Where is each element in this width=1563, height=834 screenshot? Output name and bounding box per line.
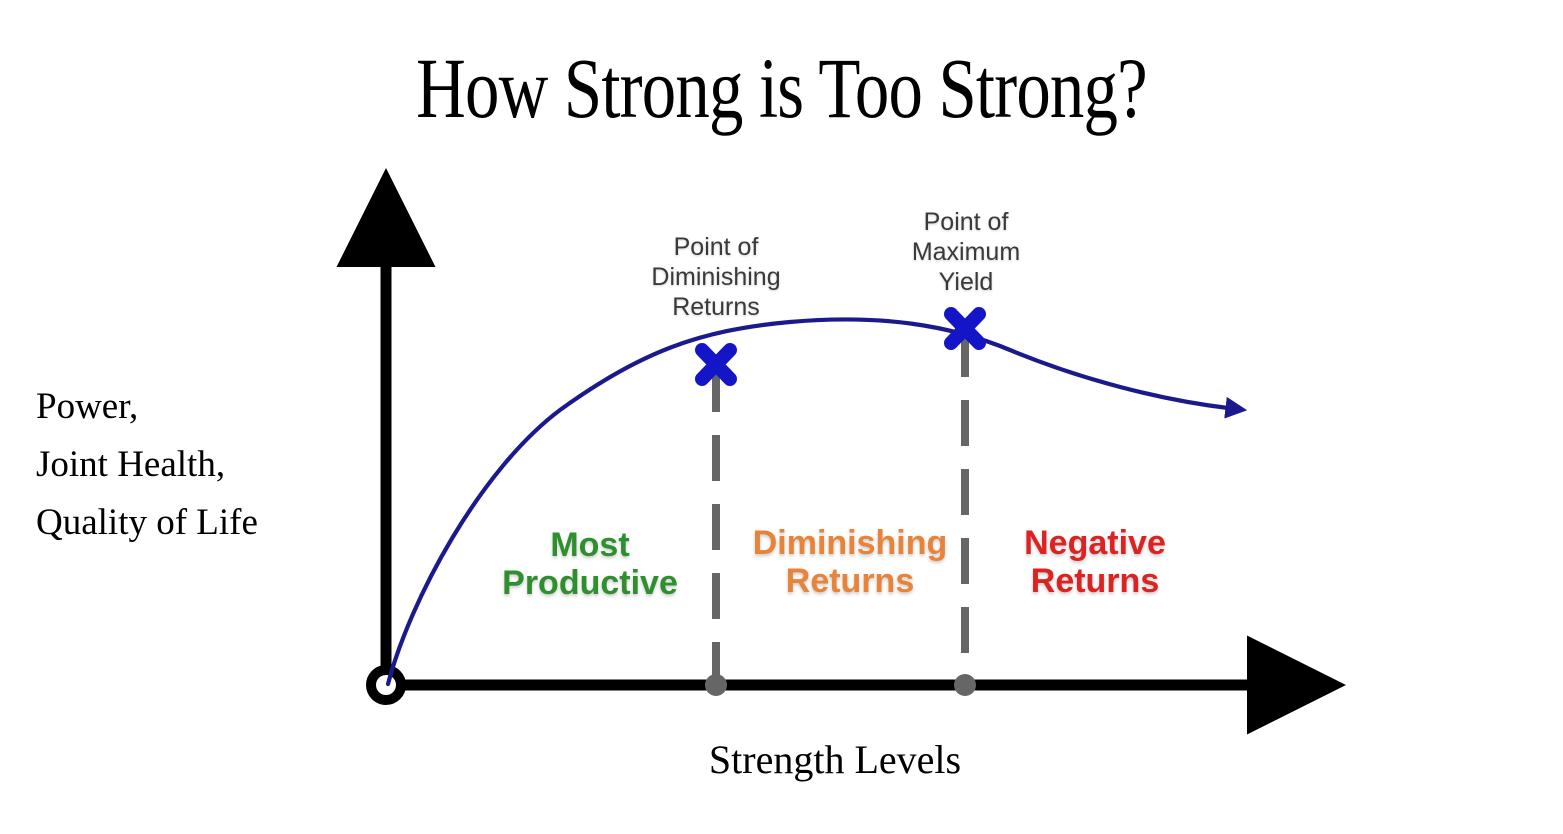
zone-label-negative-returns: Negative Returns	[970, 526, 1220, 598]
divider-base-dot-maximum-yield	[954, 674, 976, 696]
callout-dim-line-2: Diminishing	[596, 262, 836, 292]
performance-curve	[388, 319, 1228, 684]
zone-label-diminishing-returns: Diminishing Returns	[710, 526, 990, 598]
callout-point-of-maximum-yield: Point of Maximum Yield	[848, 207, 1084, 297]
callout-max-line-2: Maximum	[848, 237, 1084, 267]
zone-negative-line-2: Returns	[970, 564, 1220, 598]
callout-dim-line-3: Returns	[596, 292, 836, 322]
callout-max-line-1: Point of	[848, 207, 1084, 237]
zone-productive-line-2: Productive	[440, 566, 740, 600]
slide-canvas: How Strong is Too Strong? Power, Joint H…	[0, 0, 1563, 834]
chart-plot-area	[0, 0, 1563, 834]
origin-marker-icon	[371, 670, 401, 700]
zone-diminishing-line-2: Returns	[710, 564, 990, 598]
divider-base-dot-diminishing-returns	[705, 674, 727, 696]
zone-negative-line-1: Negative	[970, 526, 1220, 560]
zone-diminishing-line-1: Diminishing	[710, 526, 990, 560]
callout-point-of-diminishing-returns: Point of Diminishing Returns	[596, 232, 836, 322]
callout-max-line-3: Yield	[848, 267, 1084, 297]
zone-label-most-productive: Most Productive	[440, 528, 740, 600]
callout-dim-line-1: Point of	[596, 232, 836, 262]
x-axis-label: Strength Levels	[600, 736, 1070, 783]
zone-productive-line-1: Most	[440, 528, 740, 562]
